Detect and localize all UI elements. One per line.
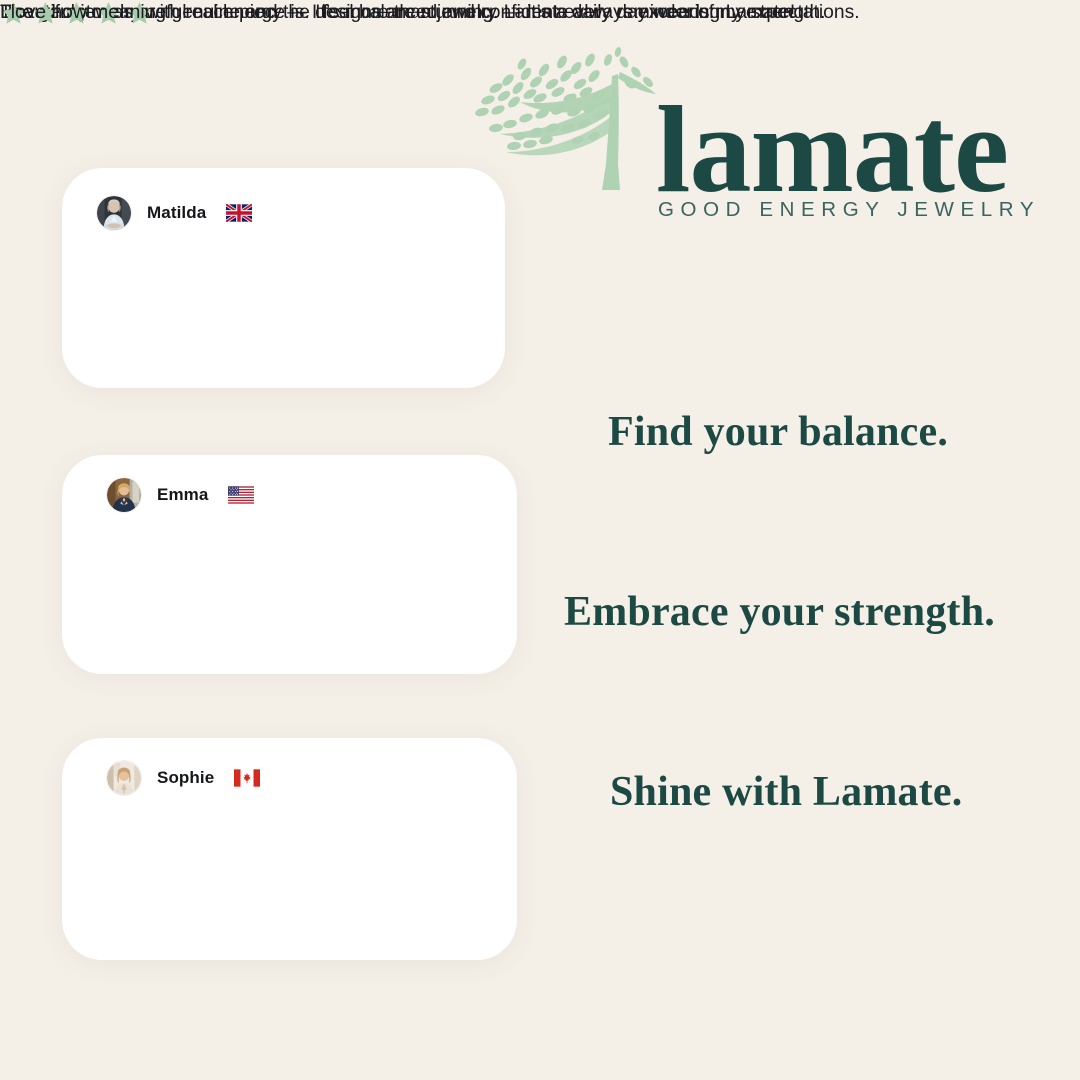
review-header: Emma [106, 477, 254, 513]
flag-uk-icon [226, 204, 252, 222]
review-header: Matilda [96, 195, 252, 231]
tagline-find-your-balance: Find your balance. [608, 408, 948, 456]
promo-graphic: lamate GOOD ENERGY JEWELRY [0, 0, 1080, 1080]
flag-canada-icon [234, 769, 260, 787]
logo-wordmark: lamate [656, 88, 1008, 212]
reviewer-name: Emma [157, 485, 208, 505]
logo-tagline: GOOD ENERGY JEWELRY [658, 198, 1040, 222]
tagline-embrace-your-strength: Embrace your strength. [564, 588, 995, 636]
brand-logo: lamate GOOD ENERGY JEWELRY [466, 40, 1032, 230]
avatar [96, 195, 132, 231]
review-text: I love how meaningful each piece is. It’… [0, 0, 826, 26]
avatar [106, 477, 142, 513]
tagline-shine-with-lamate: Shine with Lamate. [610, 768, 962, 816]
reviewer-name: Sophie [157, 768, 214, 788]
reviewer-name: Matilda [147, 203, 206, 223]
review-header: Sophie [106, 760, 260, 796]
avatar [106, 760, 142, 796]
flag-us-icon [228, 486, 254, 504]
